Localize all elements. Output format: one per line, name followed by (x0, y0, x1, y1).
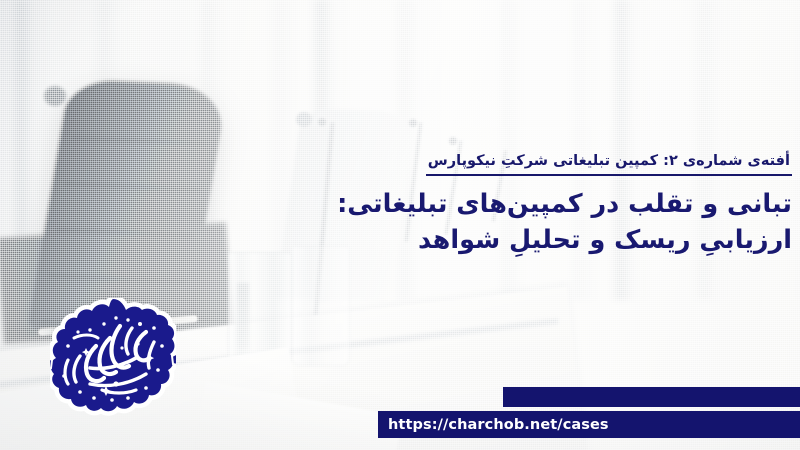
brand-seal[interactable] (50, 298, 176, 416)
site-url[interactable]: https://charchob.net/cases (378, 417, 609, 433)
chair-stem-cap (318, 118, 326, 126)
chair-stem-cap (449, 137, 457, 145)
water-glass-secondary (292, 246, 350, 366)
chair-stem-cap (409, 119, 417, 127)
page-title: تبانی و تقلب در کمپین‌های تبلیغاتی: ارزی… (12, 186, 792, 258)
cover-canvas: أفته‌ی شماره‌ی ۲: کمپین تبلیغاتی شرکتِ ن… (0, 0, 800, 450)
cover-copy-block: أفته‌ی شماره‌ی ۲: کمپین تبلیغاتی شرکتِ ن… (12, 150, 792, 258)
pale-mesh-chair-cap (296, 112, 312, 127)
accent-bar (503, 387, 800, 407)
dark-executive-chair-cap (44, 86, 66, 106)
eyebrow-case-label: أفته‌ی شماره‌ی ۲: کمپین تبلیغاتی شرکتِ ن… (426, 152, 792, 176)
headline-line-2: ارزیابیِ ریسک و تحلیلِ شواهد (12, 222, 792, 258)
headline-line-1: تبانی و تقلب در کمپین‌های تبلیغاتی: (12, 186, 792, 222)
url-bar: https://charchob.net/cases (378, 411, 800, 438)
